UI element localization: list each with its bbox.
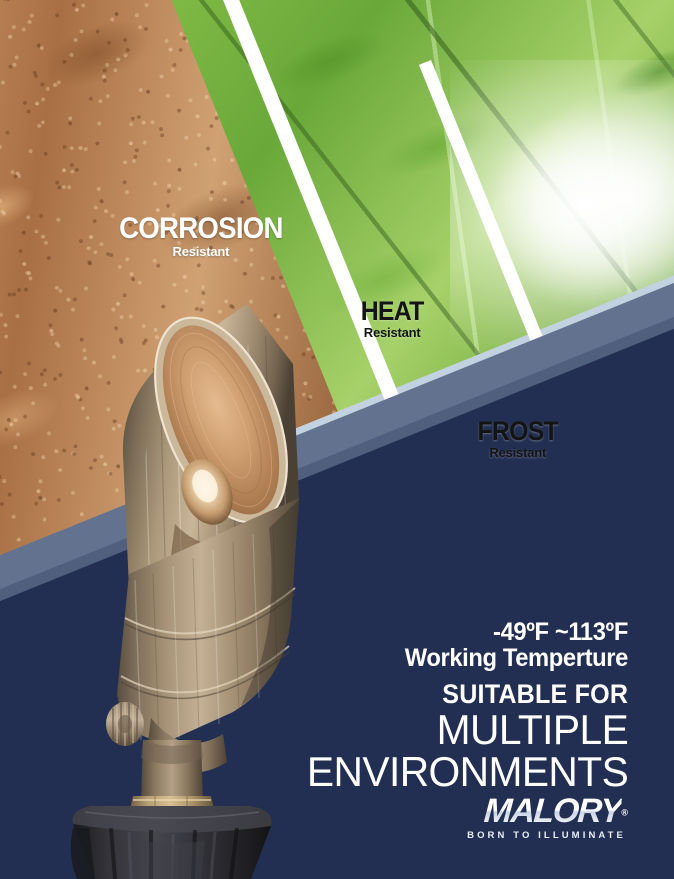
brand-wordmark: MALORY xyxy=(483,794,622,828)
feature-tag-frost: FROST Resistant xyxy=(474,418,562,459)
brand-tagline: BORN TO ILLUMINATE xyxy=(467,830,626,841)
feature-tag-heat-sub: Resistant xyxy=(358,326,426,339)
headline-line-1: MULTIPLE xyxy=(307,709,628,751)
feature-tag-heat: HEAT Resistant xyxy=(358,298,426,339)
feature-tag-frost-sub: Resistant xyxy=(474,446,562,459)
product-image-spotlight xyxy=(55,288,315,879)
fixture-adjustment-knob xyxy=(106,702,144,746)
feature-tag-corrosion-main: CORROSION xyxy=(119,214,283,244)
feature-tag-heat-main: HEAT xyxy=(361,298,424,325)
headline-kicker: SUITABLE FOR xyxy=(320,680,628,709)
poster-canvas: CORROSION Resistant HEAT Resistant FROST… xyxy=(0,0,674,879)
feature-tag-frost-main: FROST xyxy=(478,418,559,445)
working-temperature-block: -49ºF ~113ºF Working Temperture xyxy=(393,620,628,671)
feature-tag-corrosion-sub: Resistant xyxy=(112,245,290,258)
headline-block: SUITABLE FOR MULTIPLE ENVIRONMENTS xyxy=(297,680,628,793)
registered-trademark-icon: ® xyxy=(621,808,628,818)
headline-line-2: ENVIRONMENTS xyxy=(307,751,628,793)
fixture-ground-stake xyxy=(71,806,272,879)
temperature-range: -49ºF ~113ºF xyxy=(405,620,628,646)
feature-tag-corrosion: CORROSION Resistant xyxy=(112,214,290,258)
temperature-label: Working Temperture xyxy=(405,646,628,672)
brand-logo: MALORY® BORN TO ILLUMINATE xyxy=(467,794,628,841)
